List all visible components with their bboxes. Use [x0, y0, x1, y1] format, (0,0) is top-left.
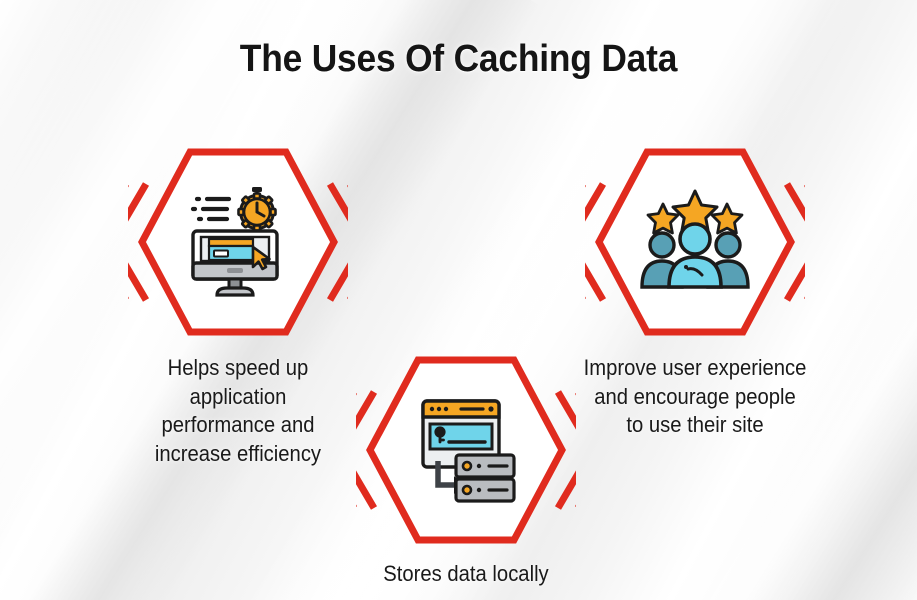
node-store: Stores data locally — [356, 350, 576, 550]
caption-store: Stores data locally — [352, 560, 580, 589]
monitor-stopwatch-icon — [183, 187, 293, 297]
hexagon-badge-speed[interactable] — [128, 142, 348, 342]
browser-server-icon — [411, 395, 521, 505]
server-rack-glyph — [456, 455, 514, 501]
speed-lines — [193, 199, 229, 219]
node-speed: Helps speed up application performance a… — [128, 142, 348, 342]
people-stars-icon — [640, 187, 750, 297]
person-center-glyph — [669, 224, 721, 287]
monitor-glyph — [193, 231, 277, 295]
hexagon-badge-ux[interactable] — [585, 142, 805, 342]
infographic-canvas: The Uses Of Caching Data — [0, 0, 917, 600]
page-title: The Uses Of Caching Data — [32, 38, 885, 81]
hexagon-badge-store[interactable] — [356, 350, 576, 550]
node-ux: Improve user experience and encourage pe… — [585, 142, 805, 342]
stopwatch-glyph — [239, 187, 276, 231]
caption-speed: Helps speed up application performance a… — [124, 354, 352, 468]
caption-ux: Improve user experience and encourage pe… — [581, 354, 809, 440]
